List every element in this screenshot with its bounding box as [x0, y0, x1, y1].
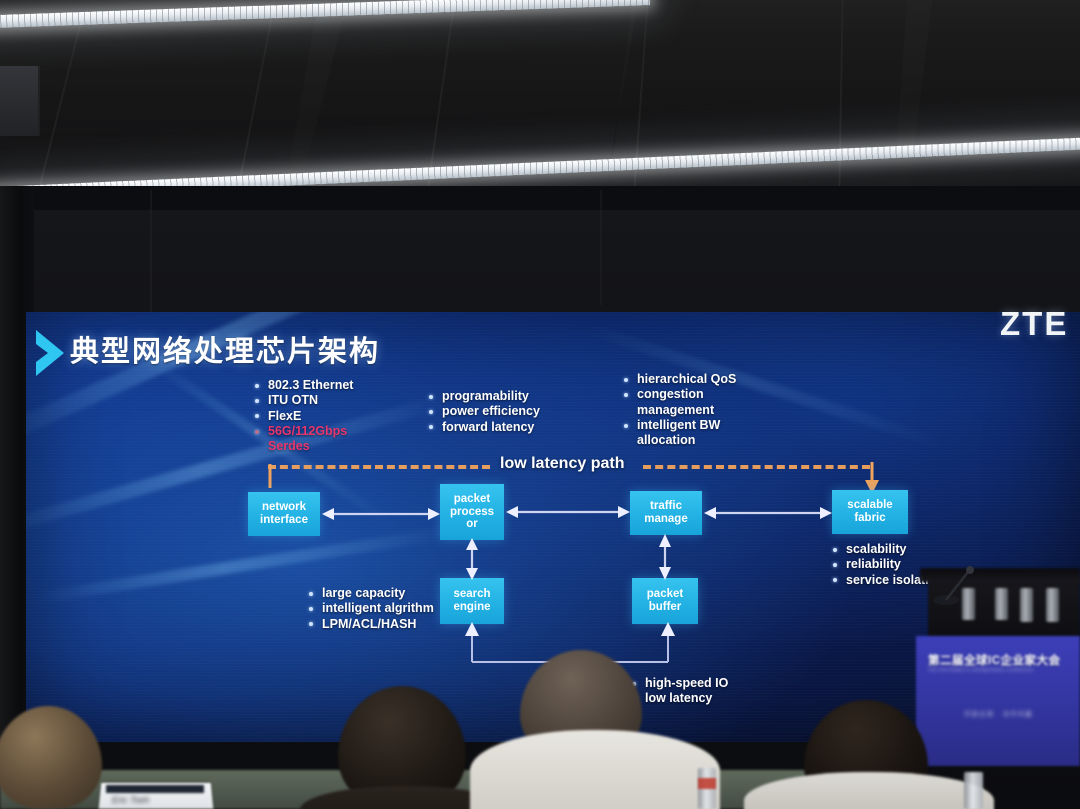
- low-latency-path-line-left: [268, 465, 490, 469]
- edge-processor-to-traffic: [506, 504, 630, 520]
- ceiling-seam: [38, 66, 40, 136]
- list-item: congestion: [637, 387, 736, 402]
- ceiling-panel: [893, 0, 1080, 200]
- list-item: programability: [442, 389, 540, 404]
- low-latency-path-line-right: [643, 465, 870, 469]
- list-item: low latency: [645, 691, 728, 706]
- node-traffic-manager[interactable]: traffic manage: [630, 491, 702, 535]
- microphone-icon: [934, 566, 978, 612]
- node-label: scalable fabric: [847, 499, 892, 525]
- list-item: intelligent BW: [637, 418, 736, 433]
- edge-traffic-to-fabric: [704, 505, 832, 521]
- water-bottle: [995, 588, 1008, 620]
- node-label: traffic manage: [644, 500, 687, 526]
- list-item: management: [637, 403, 736, 418]
- list-item: high-speed IO: [645, 676, 728, 691]
- edge-network-to-processor: [322, 506, 440, 522]
- list-item: Serdes: [268, 439, 353, 454]
- bullets-interfaces: 802.3 Ethernet ITU OTN FlexE 56G/112Gbps…: [268, 378, 353, 454]
- node-label: packet buffer: [647, 588, 683, 614]
- banner-title-en: The 2nd Global IC Entrepreneurs Conferen…: [928, 667, 1033, 672]
- list-item: FlexE: [268, 409, 353, 424]
- node-label: search engine: [453, 588, 490, 614]
- placard-logo-bar: [106, 785, 204, 793]
- ceiling-window: [0, 66, 38, 136]
- bullets-traffic: hierarchical QoS congestion management i…: [637, 372, 736, 448]
- edge-traffic-to-buffer: [657, 534, 673, 580]
- node-scalable-fabric[interactable]: scalable fabric: [832, 490, 908, 534]
- list-item: forward latency: [442, 420, 540, 435]
- zte-logo: ZTE: [1000, 305, 1068, 343]
- photo-scene: 典型网络处理芯片架构 ZTE 802.3 Ethernet ITU OTN Fl…: [0, 0, 1080, 809]
- water-bottle: [1046, 588, 1059, 622]
- list-item: allocation: [637, 433, 736, 448]
- node-label: network interface: [260, 501, 308, 527]
- edge-processor-to-search: [464, 538, 480, 580]
- list-item: scalability: [846, 542, 944, 557]
- list-item: large capacity: [322, 586, 434, 601]
- slide-title: 典型网络处理芯片架构: [70, 328, 380, 370]
- list-item: intelligent algrithm: [322, 601, 434, 616]
- bullets-search-engine: large capacity intelligent algrithm LPM/…: [322, 586, 434, 632]
- node-packet-processor[interactable]: packet process or: [440, 484, 504, 540]
- water-bottle: [1020, 588, 1033, 622]
- list-item: 56G/112Gbps: [268, 424, 353, 439]
- placard-name: Eric Tseh: [112, 795, 149, 805]
- foreground-water-bottle: [964, 772, 983, 809]
- wall-seam: [600, 190, 602, 305]
- wall-ledge: [0, 186, 1080, 210]
- bottle-label: [698, 778, 716, 789]
- bullets-processing: programability power efficiency forward …: [442, 389, 540, 435]
- list-item: 802.3 Ethernet: [268, 378, 353, 393]
- node-label: packet process or: [450, 493, 494, 532]
- low-latency-path-label: low latency path: [500, 455, 624, 473]
- bullets-io: high-speed IO low latency: [645, 676, 728, 707]
- banner-title-cn: 第二届全球IC企业家大会: [928, 652, 1061, 668]
- wall-seam: [150, 190, 152, 320]
- node-packet-buffer[interactable]: packet buffer: [632, 578, 698, 624]
- node-search-engine[interactable]: search engine: [440, 578, 504, 624]
- audience-shoulder: [470, 730, 720, 809]
- list-item: ITU OTN: [268, 393, 353, 408]
- list-item: power efficiency: [442, 404, 540, 419]
- node-network-interface[interactable]: network interface: [248, 492, 320, 536]
- list-item: LPM/ACL/HASH: [322, 617, 434, 632]
- low-latency-path-tick-left: [264, 464, 276, 492]
- list-item: hierarchical QoS: [637, 372, 736, 387]
- ceiling-panel: [608, 0, 933, 200]
- banner-subtitle: 开放全球 · 合作共赢: [964, 708, 1033, 718]
